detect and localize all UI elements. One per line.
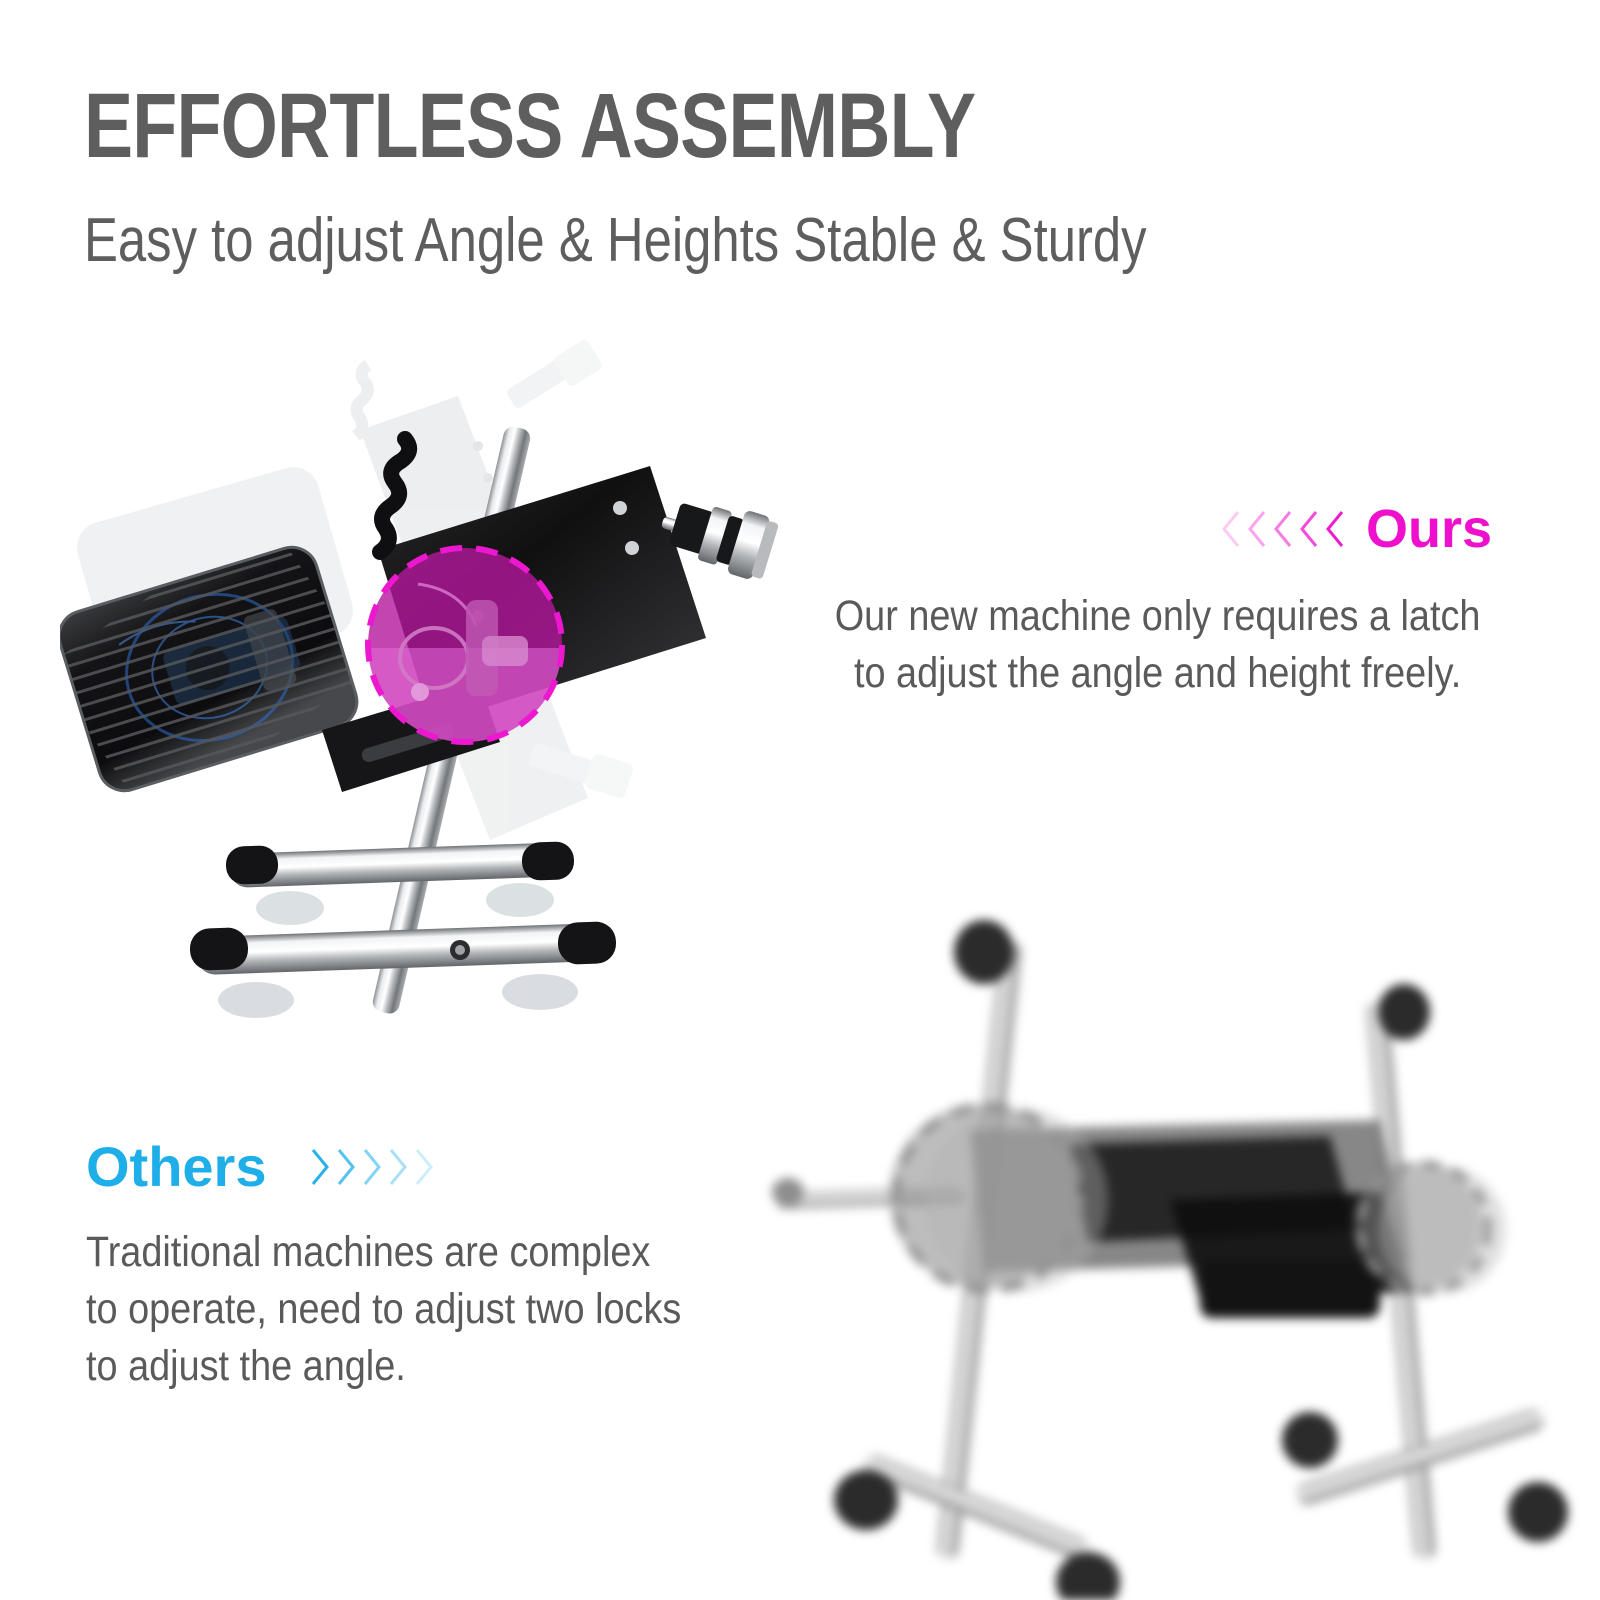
promo-page: EFFORTLESS ASSEMBLY Easy to adjust Angle… <box>0 0 1600 1600</box>
product-image-ours <box>60 300 800 1020</box>
chevron-right-icon <box>385 1146 411 1188</box>
chevron-left-icon <box>1270 508 1296 550</box>
chevron-right-icon <box>307 1146 333 1188</box>
chevron-right-icon <box>359 1146 385 1188</box>
chevron-right-group <box>307 1146 437 1188</box>
ours-description: Our new machine only requires a latch to… <box>823 588 1492 702</box>
page-title: EFFORTLESS ASSEMBLY <box>84 78 975 174</box>
chevron-left-icon <box>1244 508 1270 550</box>
others-machine-illustration <box>770 900 1600 1600</box>
ours-callout: Ours Our new machine only requires a lat… <box>732 498 1492 702</box>
chevron-left-group <box>1218 508 1348 550</box>
others-description-line-2: to operate, need to adjust two locks <box>86 1281 755 1338</box>
ours-label: Ours <box>1366 501 1492 557</box>
others-callout: Others Traditional machin <box>86 1136 846 1395</box>
product-image-others <box>770 900 1600 1600</box>
chevron-left-icon <box>1322 508 1348 550</box>
page-subtitle: Easy to adjust Angle & Heights Stable & … <box>84 206 1147 276</box>
others-description-line-3: to adjust the angle. <box>86 1338 755 1395</box>
others-description-line-1: Traditional machines are complex <box>86 1224 755 1281</box>
ours-description-line-1: Our new machine only requires a latch <box>823 588 1492 645</box>
dashed-circle-highlight-magenta <box>360 540 570 750</box>
chevron-right-icon <box>411 1146 437 1188</box>
others-description: Traditional machines are complex to oper… <box>86 1224 755 1395</box>
dashed-circle-highlight-cyan-left <box>890 1104 1108 1292</box>
others-brand-row: Others <box>86 1136 846 1198</box>
chevron-right-icon <box>333 1146 359 1188</box>
chevron-left-icon <box>1218 508 1244 550</box>
ours-brand-row: Ours <box>732 498 1492 560</box>
dashed-circle-highlight-cyan-right <box>1354 1162 1506 1294</box>
ours-description-line-2: to adjust the angle and height freely. <box>823 645 1492 702</box>
others-label: Others <box>86 1139 267 1195</box>
chevron-left-icon <box>1296 508 1322 550</box>
